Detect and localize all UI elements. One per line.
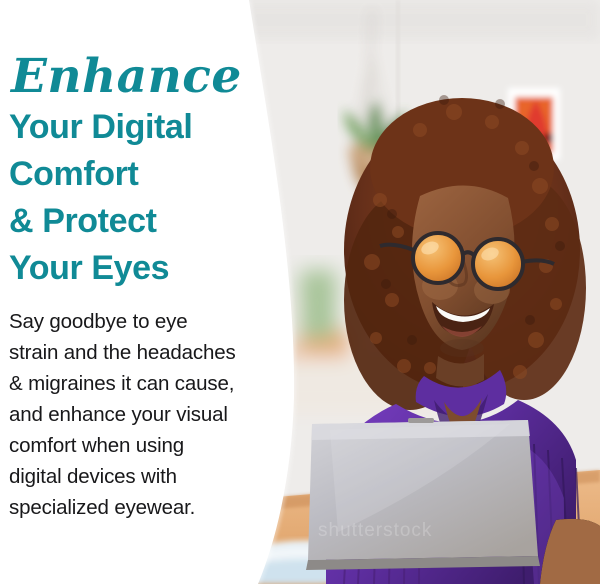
- body-line-3: & migraines it can cause,: [9, 368, 261, 399]
- text-column: Enhance Your Digital Comfort & Protect Y…: [0, 0, 268, 584]
- body-line-1: Say goodbye to eye: [9, 306, 261, 337]
- headline-line-3: & Protect: [9, 198, 267, 245]
- body-paragraph: Say goodbye to eye strain and the headac…: [9, 306, 261, 523]
- laptop: [306, 418, 540, 570]
- promo-banner: shutterstock Enhance Your Digital Comfor…: [0, 0, 600, 584]
- headline-line-4: Your Eyes: [9, 245, 267, 292]
- headline-line-2: Comfort: [9, 151, 267, 198]
- headline-script-word: Enhance: [11, 52, 267, 102]
- body-line-7: specialized eyewear.: [9, 492, 261, 523]
- headline-block: Enhance Your Digital Comfort & Protect Y…: [9, 52, 267, 292]
- body-line-2: strain and the headaches: [9, 337, 261, 368]
- headline-line-1: Your Digital: [9, 104, 267, 151]
- body-line-5: comfort when using: [9, 430, 261, 461]
- body-line-6: digital devices with: [9, 461, 261, 492]
- stock-watermark: shutterstock: [318, 520, 558, 542]
- body-line-4: and enhance your visual: [9, 399, 261, 430]
